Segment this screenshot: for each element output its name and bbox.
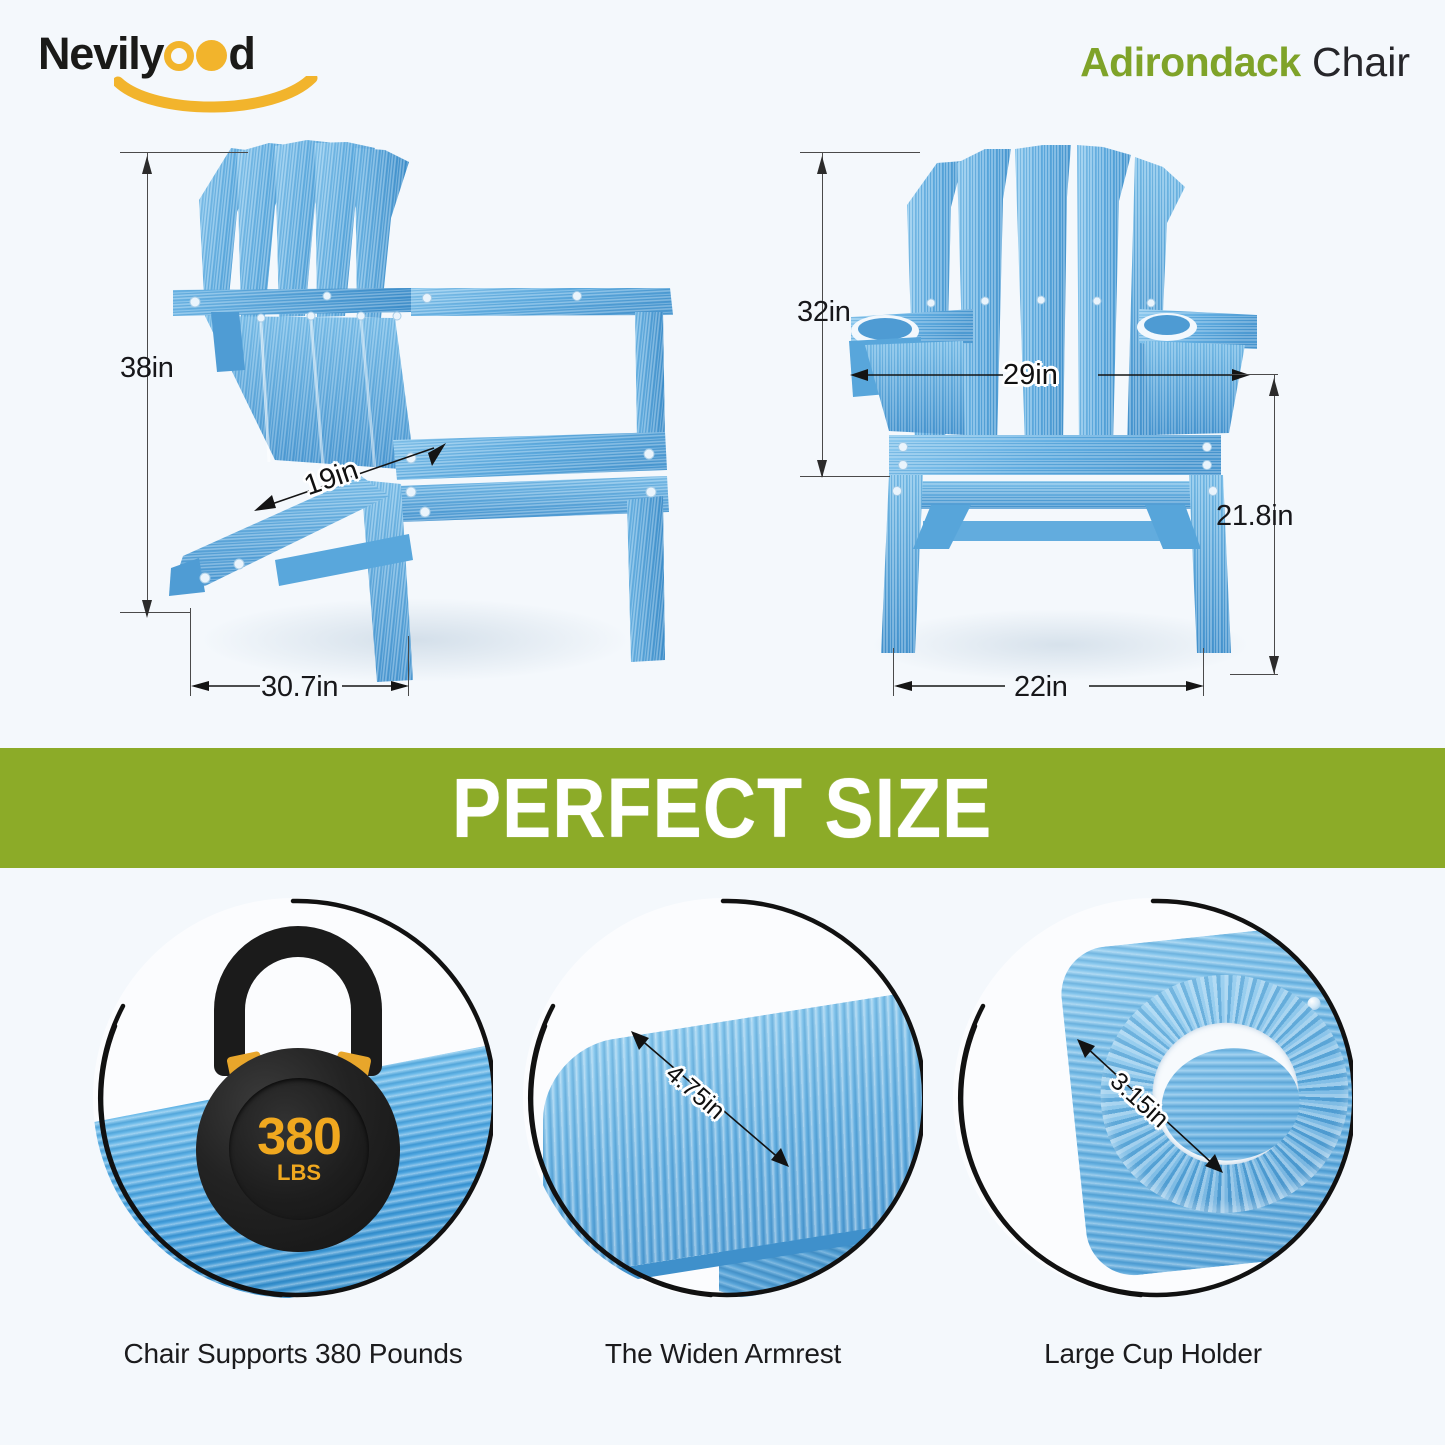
kettlebell-face: 380 LBS	[229, 1078, 369, 1220]
infographic-page: Nevilyd Adirondack Chair	[0, 0, 1445, 1445]
feature-image-weight-capacity: 380 LBS	[93, 898, 493, 1298]
dim-label-arm-width: 29in	[1003, 359, 1058, 392]
logo-o-filled-icon	[196, 40, 227, 71]
dim-arrow-height	[140, 152, 156, 622]
feature-card-widen-armrest: 4.75in The Widen Armrest	[508, 890, 938, 1430]
feature-image-widen-armrest: 4.75in	[523, 898, 923, 1298]
page-title-light: Chair	[1301, 39, 1410, 85]
side-view-chair-illustration	[165, 140, 695, 700]
feature-caption-widen-armrest: The Widen Armrest	[508, 1338, 938, 1370]
front-view-chair-illustration	[845, 145, 1275, 690]
brand-name-part1: Nevily	[38, 28, 163, 79]
header: Nevilyd Adirondack Chair	[0, 0, 1445, 130]
logo-o-outline-icon	[164, 41, 194, 71]
dim-tick-backheight-bottom	[800, 476, 890, 477]
feature-caption-cup-holder: Large Cup Holder	[938, 1338, 1368, 1370]
dim-label-width: 22in	[1014, 671, 1068, 704]
perfect-size-banner: PERFECT SIZE	[0, 748, 1445, 868]
smile-swoosh-icon	[114, 76, 319, 116]
feature-card-weight-capacity: 380 LBS Chair Supports 380 Pounds	[78, 890, 508, 1430]
weight-number: 380	[257, 1113, 341, 1161]
feature-image-cup-holder: 3.15in	[953, 898, 1353, 1298]
dim-label-depth: 30.7in	[261, 671, 338, 704]
feature-row: 380 LBS Chair Supports 380 Pounds	[0, 890, 1445, 1430]
dim-label-back-height: 32in	[797, 296, 851, 329]
page-title: Adirondack Chair	[1080, 38, 1410, 86]
kettlebell-graphic: 380 LBS	[183, 926, 413, 1256]
brand-name-part2: d	[228, 28, 254, 79]
weight-unit: LBS	[277, 1161, 321, 1185]
page-title-bold: Adirondack	[1080, 39, 1301, 85]
kettlebell-ball: 380 LBS	[196, 1048, 400, 1252]
dim-label-height: 38in	[120, 352, 174, 385]
feature-caption-weight-capacity: Chair Supports 380 Pounds	[78, 1338, 508, 1370]
banner-title: PERFECT SIZE	[452, 760, 992, 857]
brand-logo: Nevilyd	[38, 28, 338, 114]
feature-card-cup-holder: 3.15in Large Cup Holder	[938, 890, 1368, 1430]
dim-label-seat-height: 21.8in	[1216, 500, 1293, 533]
brand-logo-text: Nevilyd	[38, 28, 255, 80]
